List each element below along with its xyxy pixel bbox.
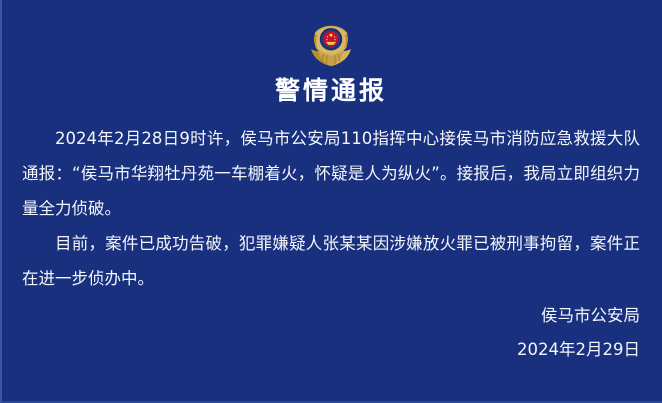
notice-paragraph-2: 目前，案件已成功告破，犯罪嫌疑人张某某因涉嫌放火罪已被刑事拘留，案件正在进一步侦…	[22, 226, 640, 296]
page-title: 警情通报	[0, 76, 662, 106]
police-notice-poster: 警情通报 2024年2月28日9时许，侯马市公安局110指挥中心接侯马市消防应急…	[0, 0, 662, 403]
signature-date: 2024年2月29日	[517, 333, 640, 367]
signature-block: 侯马市公安局 2024年2月29日	[517, 299, 640, 367]
chinese-police-badge-icon	[308, 23, 354, 68]
notice-paragraph-1: 2024年2月28日9时许，侯马市公安局110指挥中心接侯马市消防应急救援大队通…	[22, 121, 640, 226]
signature-issuer: 侯马市公安局	[517, 299, 640, 333]
poster-header: 警情通报	[0, 0, 662, 106]
notice-body: 2024年2月28日9时许，侯马市公安局110指挥中心接侯马市消防应急救援大队通…	[22, 121, 640, 296]
